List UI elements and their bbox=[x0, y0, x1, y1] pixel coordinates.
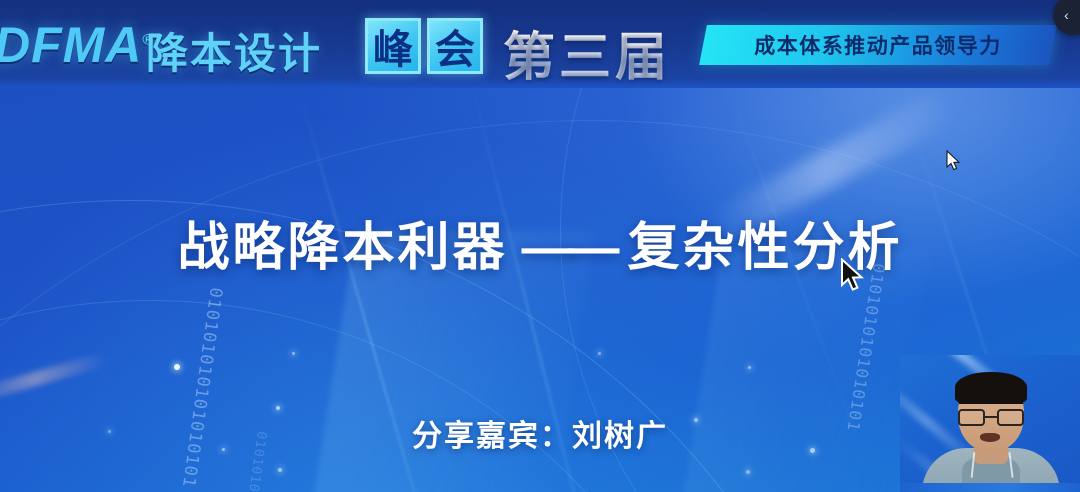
decorative-arc bbox=[0, 300, 740, 492]
dfma-logo: DFMA® bbox=[0, 16, 154, 74]
slide-title-left: 战略降本利器 bbox=[177, 219, 507, 277]
presentation-slide-viewer: 010101010101010101 0101010101010101 0101… bbox=[0, 0, 1080, 492]
decorative-dot bbox=[598, 352, 601, 355]
slide-title-dash: —— bbox=[522, 218, 614, 278]
speaker-portrait bbox=[900, 355, 1080, 492]
slide-title-right: 复杂性分析 bbox=[628, 219, 903, 277]
binary-digits-column: 010101010101010101 bbox=[178, 286, 225, 489]
boxed-char-1: 峰 bbox=[365, 18, 421, 74]
speaker-mouth bbox=[980, 433, 1000, 442]
chevron-left-icon: ‹ bbox=[1064, 7, 1069, 23]
decorative-dot bbox=[292, 352, 295, 355]
event-header-banner: DFMA® 降本设计 峰 会 第三届 成本体系推动产品领导力 bbox=[0, 0, 1080, 88]
decorative-dot bbox=[174, 364, 180, 370]
speaker-hair bbox=[955, 372, 1027, 404]
speaker-video-feed[interactable] bbox=[900, 355, 1080, 492]
video-bottom-strip bbox=[900, 483, 1080, 492]
header-edition-ordinal: 第三届 bbox=[503, 15, 671, 88]
binary-digits-column: 0101010101010101 bbox=[843, 262, 888, 433]
boxed-char-2: 会 bbox=[427, 18, 483, 74]
glasses-icon bbox=[958, 409, 1024, 426]
decorative-streak bbox=[0, 352, 109, 407]
slide-title: 战略降本利器——复杂性分析 bbox=[0, 205, 1080, 280]
decorative-dot bbox=[746, 470, 750, 474]
decorative-dot bbox=[276, 406, 280, 410]
decorative-dot bbox=[748, 366, 751, 369]
header-tagline-text: 成本体系推动产品领导力 bbox=[703, 25, 1053, 65]
header-boxed-characters: 峰 会 bbox=[365, 18, 483, 74]
glasses-lens-right bbox=[997, 409, 1024, 426]
decorative-light-wedge bbox=[678, 250, 932, 492]
decorative-dot bbox=[278, 468, 282, 472]
dfma-logo-text: DFMA bbox=[0, 17, 142, 73]
pointer-small-icon bbox=[946, 150, 962, 172]
header-subtitle-cn: 降本设计 bbox=[146, 20, 322, 81]
header-tagline-banner: 成本体系推动产品领导力 bbox=[699, 25, 1057, 65]
glasses-lens-left bbox=[958, 409, 985, 426]
glasses-bridge bbox=[985, 416, 997, 418]
